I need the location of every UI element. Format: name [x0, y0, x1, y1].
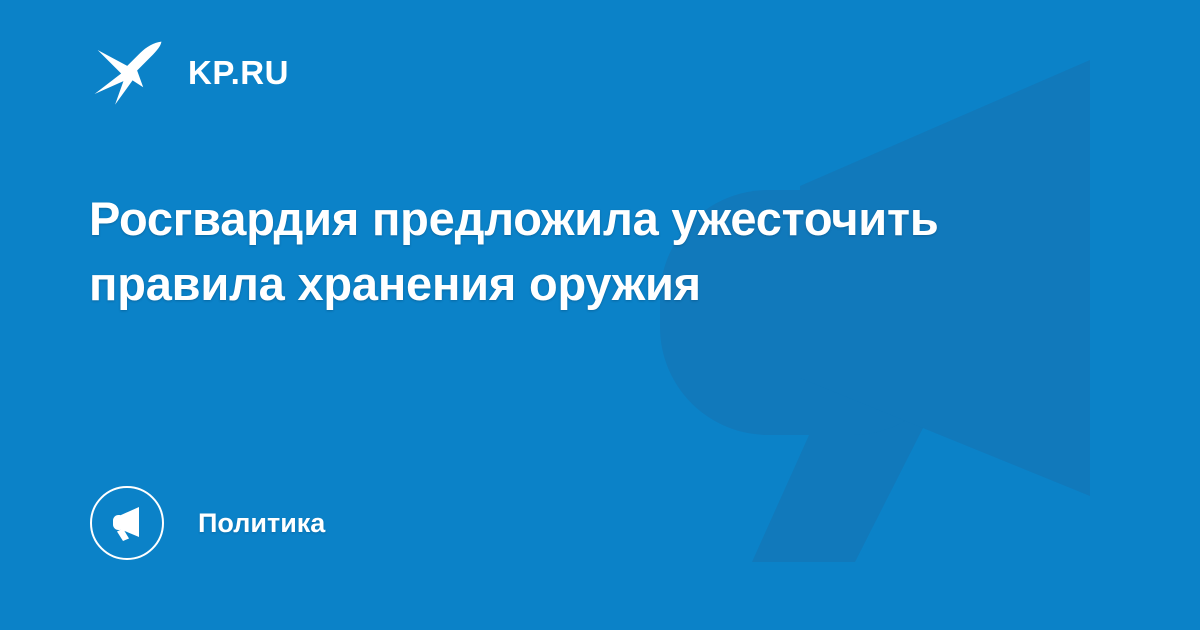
- megaphone-icon: [107, 503, 147, 543]
- rubric-label: Политика: [198, 510, 325, 537]
- brand-logo[interactable]: KP.RU: [90, 36, 289, 108]
- rubric-icon-circle: [90, 486, 164, 560]
- rubric-badge[interactable]: Политика: [90, 485, 325, 561]
- page-title: Росгвардия предложила ужесточить правила…: [89, 186, 989, 316]
- swallow-bird-icon: [90, 34, 166, 110]
- brand-wordmark: KP.RU: [188, 56, 289, 89]
- share-card: KP.RU Росгвардия предложила ужесточить п…: [0, 0, 1200, 630]
